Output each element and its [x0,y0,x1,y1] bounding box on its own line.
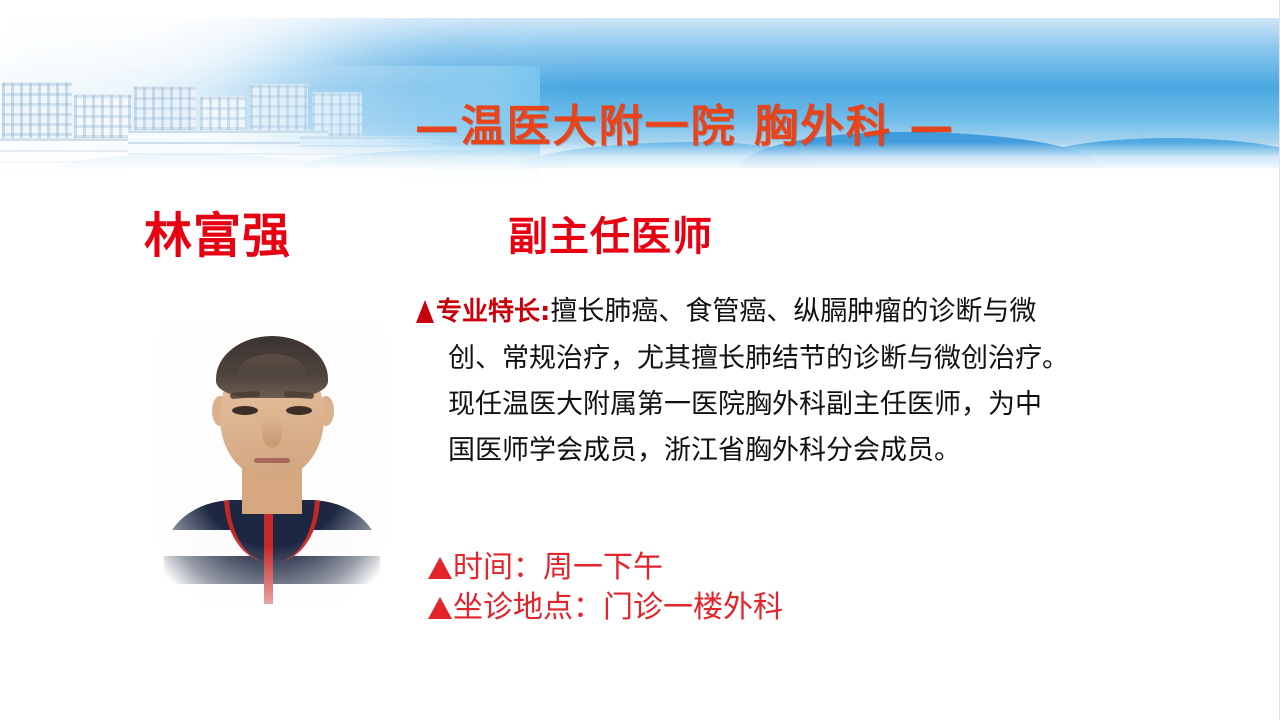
poster-page: —温医大附一院 胸外科 — 林富强 副主任医师 专业特长:擅长肺癌、食管癌、纵膈… [0,0,1280,720]
schedule-time-label: 时间： [453,551,543,584]
schedule-time-value: 周一下午 [543,551,663,584]
bio-line-1: 现任温医大附属第一医院胸外科副主任医师，为中 [416,381,1206,427]
specialty-text: 擅长肺癌、食管癌、纵膈肿瘤的诊断与微 [550,296,1036,326]
photo-nose [262,418,282,448]
photo-shirt [164,500,380,606]
doctor-name: 林富强 [144,208,291,264]
triangle-bullet-icon [428,557,452,579]
schedule-location-label: 坐诊地点： [453,591,603,624]
specialty-label: 专业特长: [436,297,550,327]
photo-placket [264,508,273,604]
triangle-bullet-icon [428,597,452,619]
photo-mouth [254,458,290,463]
specialty-line-2: 创、常规治疗，尤其擅长肺结节的诊断与微创治疗。 [416,335,1206,381]
doctor-photo [158,322,386,606]
specialty-line: 专业特长:擅长肺癌、食管癌、纵膈肿瘤的诊断与微 [416,288,1206,335]
schedule-location-value: 门诊一楼外科 [603,591,783,624]
banner-title: —温医大附一院 胸外科 — [0,102,1280,152]
schedule-block: 时间：周一下午 坐诊地点：门诊一楼外科 [428,548,783,628]
bio-line-2: 国医师学会成员，浙江省胸外科分会成员。 [416,427,1206,473]
schedule-time-row: 时间：周一下午 [428,548,783,588]
schedule-location-row: 坐诊地点：门诊一楼外科 [428,588,783,628]
description-block: 专业特长:擅长肺癌、食管癌、纵膈肿瘤的诊断与微 创、常规治疗，尤其擅长肺结节的诊… [416,288,1206,473]
header-banner: —温医大附一院 胸外科 — [0,18,1280,182]
photo-eye [286,406,312,415]
photo-eye [232,406,258,415]
triangle-bullet-icon [416,300,434,323]
doctor-role: 副主任医师 [508,212,713,262]
photo-hair [216,336,328,398]
